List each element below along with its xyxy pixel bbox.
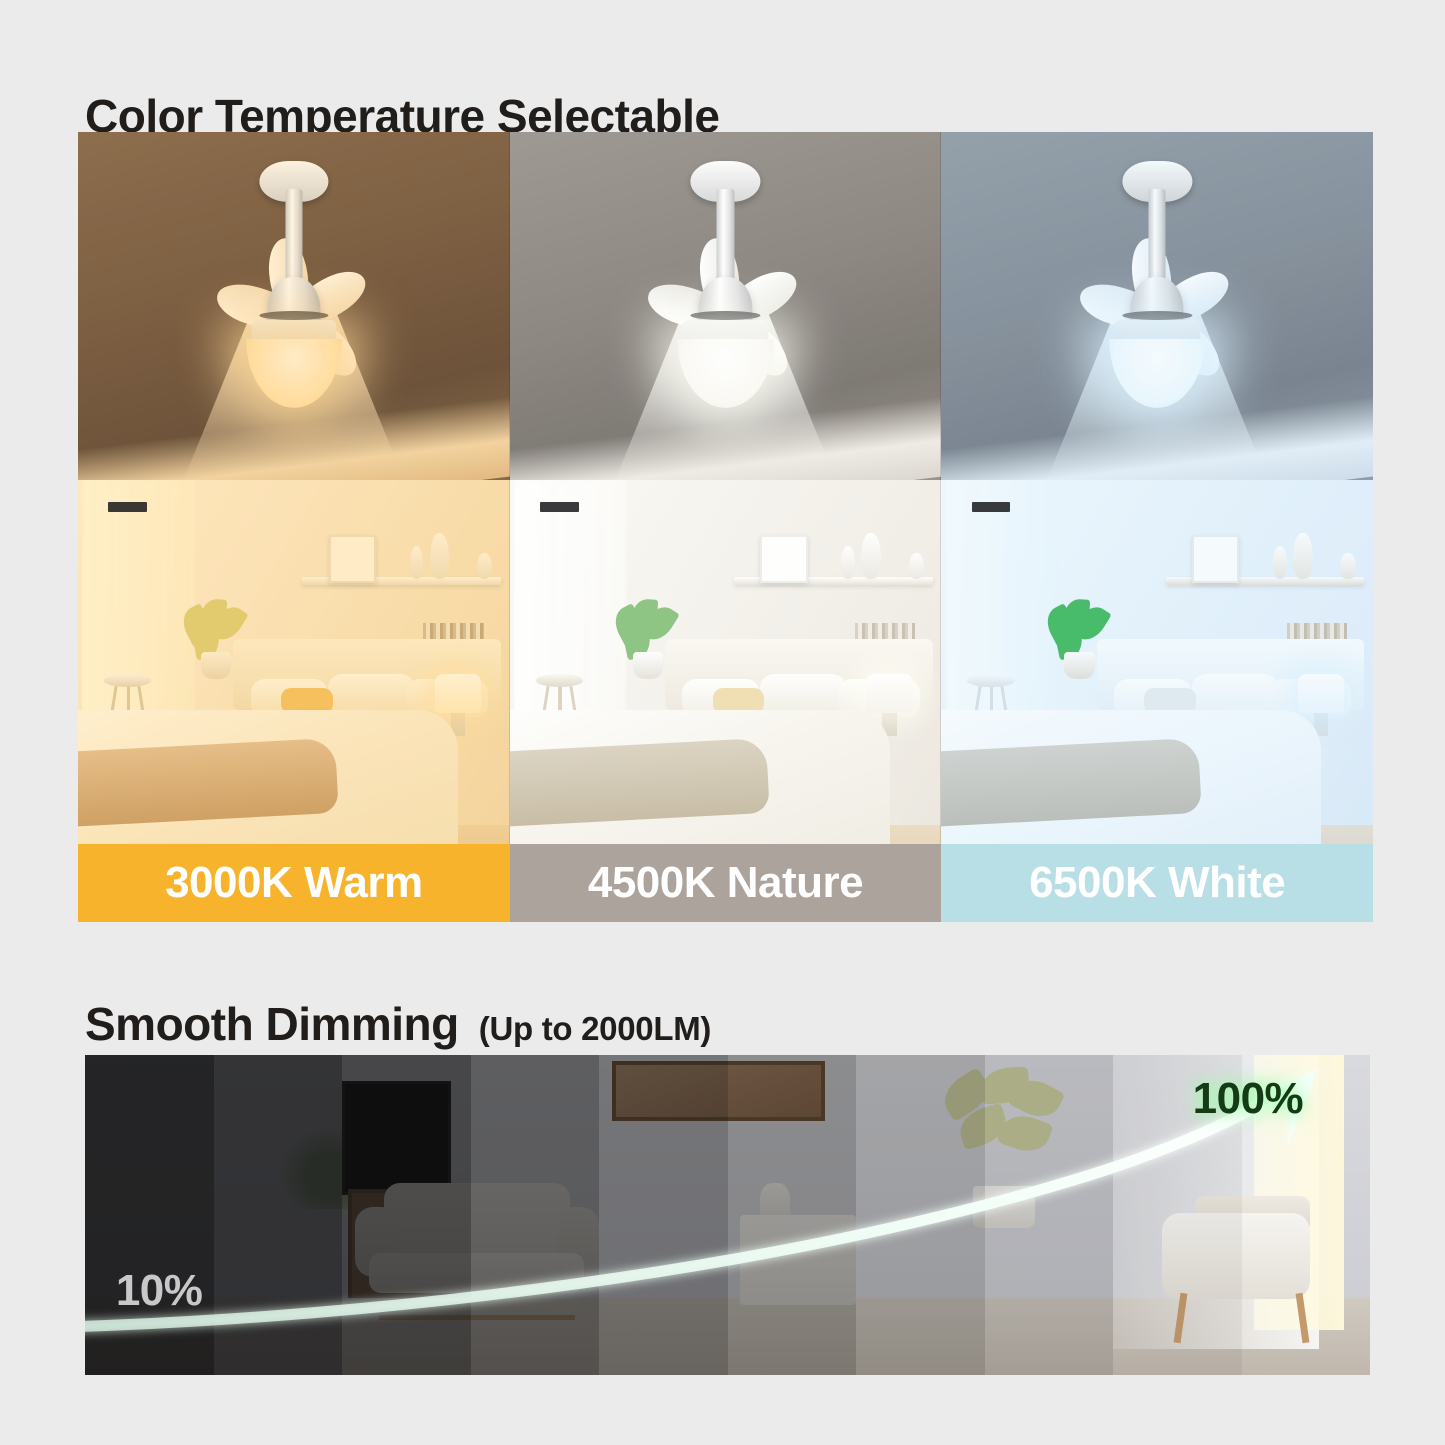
lamp-shade — [435, 674, 482, 712]
dimming-high-label: 100% — [1193, 1074, 1304, 1124]
cct-label-4500k: 4500K Nature — [510, 844, 942, 922]
lamp-shade — [866, 674, 913, 712]
pillow — [760, 674, 846, 714]
dimming-heading-group: Smooth Dimming (Up to 2000LM) — [85, 997, 711, 1051]
cct-panel-6500k[interactable]: 6500K White — [941, 132, 1373, 922]
ceiling-area-white — [941, 132, 1373, 495]
chair-body — [1162, 1213, 1310, 1298]
fan-light-globe — [1109, 339, 1205, 408]
dimming-image: 10% 100% — [85, 1055, 1370, 1375]
vase — [1293, 533, 1312, 579]
plant-pot — [633, 652, 663, 679]
fan-light-globe — [246, 339, 342, 408]
smooth-dimming-title: Smooth Dimming — [85, 997, 459, 1051]
plant-pot — [201, 652, 231, 679]
vase — [841, 546, 855, 579]
vase — [909, 553, 925, 580]
plant-pot — [1064, 652, 1094, 679]
vase — [1273, 546, 1287, 579]
plant-pot — [973, 1186, 1035, 1228]
color-temperature-section: Color Temperature Selectable — [0, 0, 1445, 955]
vase — [861, 533, 880, 579]
potted-plant — [933, 1068, 1074, 1228]
vase — [430, 533, 449, 579]
smooth-dimming-section: Smooth Dimming (Up to 2000LM) — [0, 955, 1445, 1445]
lounge-chair — [1152, 1196, 1332, 1343]
pillow — [328, 674, 414, 714]
vase — [410, 546, 424, 579]
table-top — [536, 674, 583, 687]
table-top — [967, 674, 1014, 687]
cct-panel-3000k[interactable]: 3000K Warm — [78, 132, 510, 922]
side-table — [740, 1215, 856, 1305]
picture-frame — [760, 535, 807, 583]
dimming-low-label: 10% — [116, 1266, 203, 1316]
chair-leg — [1296, 1293, 1310, 1344]
window-blind — [108, 502, 147, 513]
picture-frame — [329, 535, 376, 583]
bed-throw-blanket — [941, 738, 1202, 828]
cct-label-6500k: 6500K White — [941, 844, 1373, 922]
window-blind — [540, 502, 579, 513]
fan-light-globe — [677, 339, 773, 408]
bed-throw-blanket — [510, 738, 771, 828]
window-blind — [972, 502, 1011, 513]
vase — [1340, 553, 1356, 580]
chair-leg — [1173, 1293, 1187, 1344]
smooth-dimming-subtitle: (Up to 2000LM) — [479, 1010, 711, 1048]
cct-panel-4500k[interactable]: 4500K Nature — [510, 132, 942, 922]
lamp-shade — [1298, 674, 1345, 712]
cct-label-3000k: 3000K Warm — [78, 844, 510, 922]
armchair — [355, 1183, 599, 1317]
ceiling-area-warm — [78, 132, 510, 495]
table-top — [104, 674, 151, 687]
color-temperature-panel-strip: 3000K Warm — [78, 132, 1373, 922]
tv-screen — [342, 1081, 451, 1196]
chair-legs — [379, 1293, 574, 1320]
ceiling-area-nature — [510, 132, 942, 495]
picture-frame — [1192, 535, 1239, 583]
vase — [477, 553, 493, 580]
pillow — [1192, 674, 1278, 714]
bed-throw-blanket — [78, 738, 339, 828]
wall-art — [612, 1061, 826, 1120]
living-room-scene — [85, 1055, 1370, 1375]
chair-seat — [369, 1253, 584, 1293]
